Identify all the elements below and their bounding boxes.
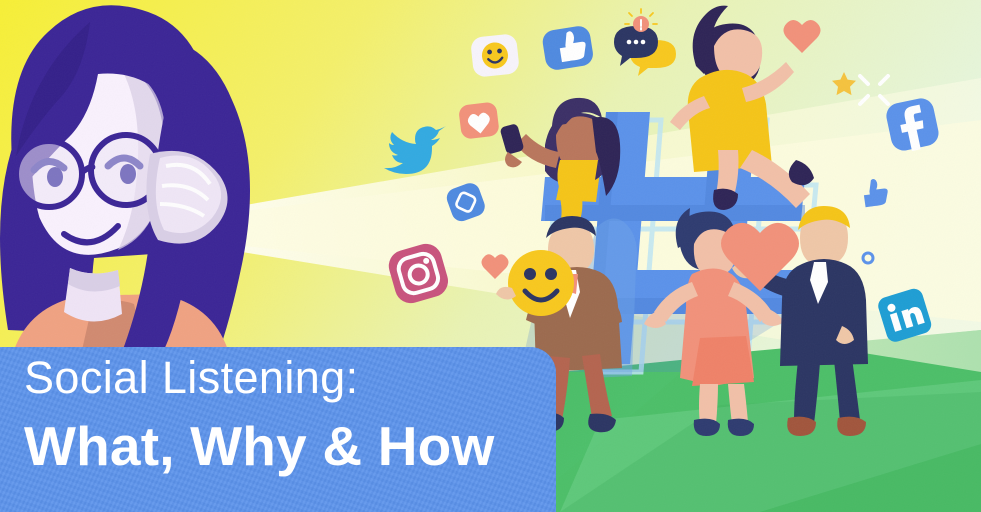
smiley-square-icon [470,33,520,78]
title-banner: Social Listening: What, Why & How [0,347,556,512]
illustration-banner: Social Listening: What, Why & How [0,0,981,512]
page-title-line-2: What, Why & How [24,419,494,474]
page-title-line-1: Social Listening: [24,355,359,400]
thumbs-up-square-icon [541,24,595,71]
heart-square-icon [458,101,500,139]
